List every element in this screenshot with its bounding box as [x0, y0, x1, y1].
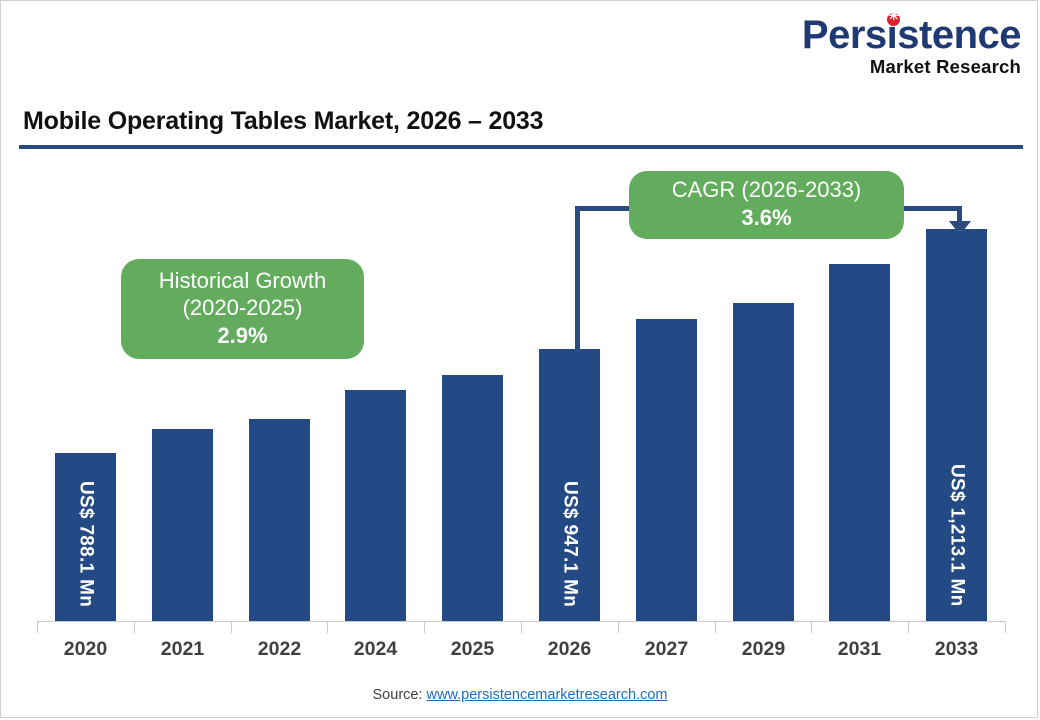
bar-2026[interactable]: US$ 947.1 Mn — [539, 349, 600, 621]
x-axis-label-2027: 2027 — [618, 638, 715, 661]
cagr-callout-line1: CAGR (2026-2033) — [629, 177, 904, 204]
cagr-callout[interactable]: CAGR (2026-2033) 3.6% — [629, 171, 904, 239]
bar-value-label-text: US$ 947.1 Mn — [560, 481, 581, 607]
x-axis-tick — [37, 621, 38, 633]
x-axis-tick — [231, 621, 232, 633]
bar-value-label-text: US$ 1,213.1 Mn — [947, 464, 968, 607]
cagr-arrowhead-icon — [949, 221, 971, 235]
historical-callout-line2: (2020-2025) — [121, 295, 364, 322]
x-axis-label-2026: 2026 — [521, 638, 618, 661]
x-axis-label-2022: 2022 — [231, 638, 328, 661]
bar-2031[interactable] — [829, 264, 890, 621]
historical-callout-line1: Historical Growth — [121, 268, 364, 295]
source-line: Source: www.persistencemarketresearch.co… — [1, 687, 1039, 703]
bar-value-label-2026: US$ 947.1 Mn — [559, 481, 581, 607]
x-axis-tick — [521, 621, 522, 633]
bar-2029[interactable] — [733, 303, 794, 621]
x-axis-tick — [811, 621, 812, 633]
bar-chart: US$ 788.1 MnUS$ 947.1 MnUS$ 1,213.1 Mn 2… — [1, 1, 1039, 719]
bar-value-label-2020: US$ 788.1 Mn — [75, 481, 97, 607]
bar-value-label-text: US$ 788.1 Mn — [76, 481, 97, 607]
bar-2033[interactable]: US$ 1,213.1 Mn — [926, 229, 987, 621]
x-axis-tick — [908, 621, 909, 633]
bar-2025[interactable] — [442, 375, 503, 621]
cagr-connector-vertical-left — [575, 206, 580, 351]
x-axis-tick — [1005, 621, 1006, 633]
x-axis-label-2033: 2033 — [908, 638, 1005, 661]
bar-value-label-2033: US$ 1,213.1 Mn — [946, 464, 968, 607]
bar-2027[interactable] — [636, 319, 697, 621]
cagr-callout-percent: 3.6% — [629, 204, 904, 233]
historical-callout-percent: 2.9% — [121, 322, 364, 351]
historical-growth-callout[interactable]: Historical Growth (2020-2025) 2.9% — [121, 259, 364, 359]
x-axis-label-2029: 2029 — [715, 638, 812, 661]
x-axis-tick — [327, 621, 328, 633]
bar-2021[interactable] — [152, 429, 213, 621]
x-axis-label-2020: 2020 — [37, 638, 134, 661]
x-axis-tick — [424, 621, 425, 633]
source-prefix: Source: — [373, 687, 427, 703]
x-axis-label-2021: 2021 — [134, 638, 231, 661]
chart-page: Persistence ✳ Market Research Mobile Ope… — [0, 0, 1038, 718]
x-axis-tick — [715, 621, 716, 633]
source-link[interactable]: www.persistencemarketresearch.com — [427, 687, 668, 703]
x-axis-tick — [134, 621, 135, 633]
x-axis-label-2031: 2031 — [811, 638, 908, 661]
x-axis-tick — [618, 621, 619, 633]
x-axis-label-2024: 2024 — [327, 638, 424, 661]
bar-2024[interactable] — [345, 390, 406, 621]
bar-2020[interactable]: US$ 788.1 Mn — [55, 453, 116, 621]
x-axis-label-2025: 2025 — [424, 638, 521, 661]
bar-2022[interactable] — [249, 419, 310, 621]
